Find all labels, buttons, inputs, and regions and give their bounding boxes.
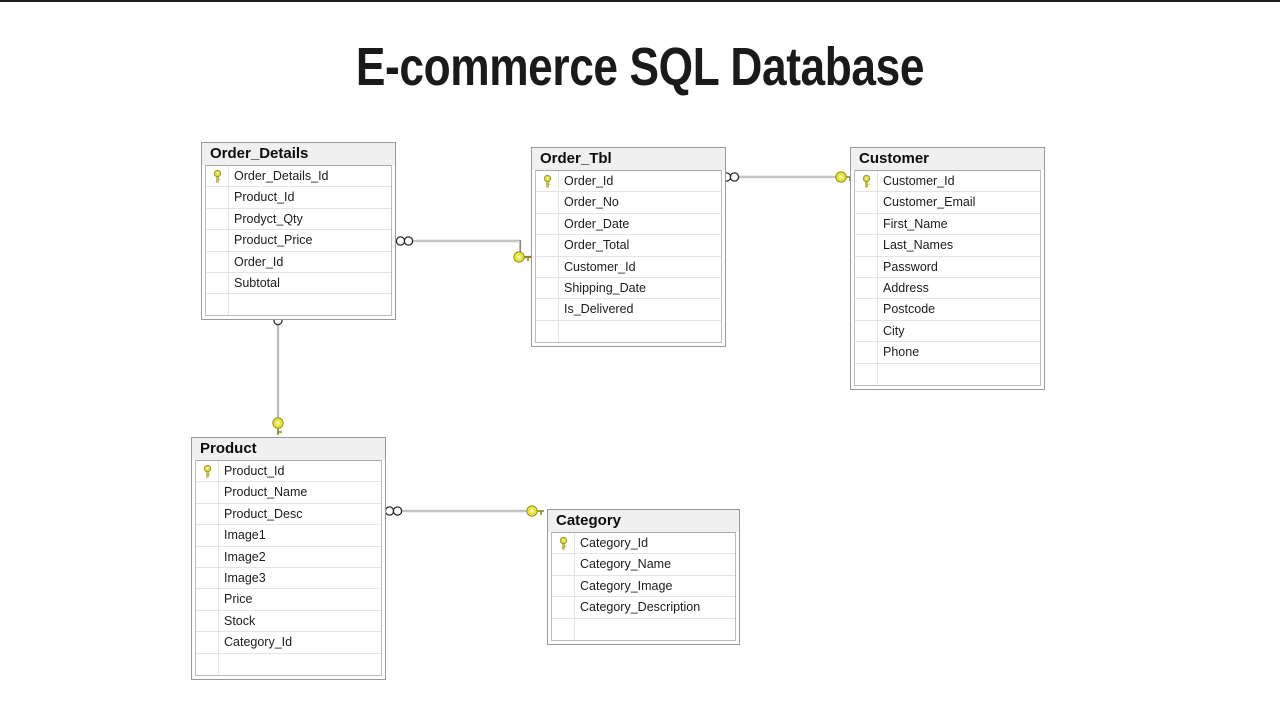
field-row[interactable]: Customer_Id — [536, 257, 721, 278]
field-key-gutter — [536, 278, 559, 298]
field-name: Order_No — [564, 192, 619, 212]
field-key-gutter — [855, 321, 878, 341]
field-row[interactable]: Product_Name — [196, 482, 381, 503]
field-row[interactable]: Prodyct_Qty — [206, 209, 391, 230]
field-name: Customer_Id — [564, 257, 636, 277]
field-name: Prodyct_Qty — [234, 209, 303, 229]
entity-fields-customer: Customer_IdCustomer_EmailFirst_NameLast_… — [854, 170, 1041, 386]
field-row[interactable]: Price — [196, 589, 381, 610]
field-key-gutter — [196, 504, 219, 524]
field-name: Subtotal — [234, 273, 280, 293]
field-row[interactable]: Customer_Email — [855, 192, 1040, 213]
field-row[interactable]: Order_No — [536, 192, 721, 213]
field-key-gutter — [552, 533, 575, 553]
field-name: Image1 — [224, 525, 266, 545]
field-name: Address — [883, 278, 929, 298]
field-name: Phone — [883, 342, 919, 362]
entity-table-product[interactable]: ProductProduct_IdProduct_NameProduct_Des… — [191, 437, 386, 680]
entity-fields-order_tbl: Order_IdOrder_NoOrder_DateOrder_TotalCus… — [535, 170, 722, 343]
field-key-gutter — [855, 192, 878, 212]
rel-order-details-order-tbl — [396, 237, 534, 262]
field-row[interactable]: Image2 — [196, 547, 381, 568]
field-row[interactable]: Order_Date — [536, 214, 721, 235]
rel-order-details-product — [273, 308, 283, 435]
field-key-gutter — [206, 294, 229, 315]
field-name: Category_Id — [224, 632, 292, 652]
field-name: Order_Total — [564, 235, 629, 255]
field-key-gutter — [536, 257, 559, 277]
field-row[interactable]: Product_Id — [206, 187, 391, 208]
field-row[interactable]: Order_Id — [206, 252, 391, 273]
field-row[interactable]: Product_Id — [196, 461, 381, 482]
field-row-empty[interactable] — [536, 321, 721, 342]
field-key-gutter — [855, 342, 878, 362]
field-row[interactable]: Category_Id — [196, 632, 381, 653]
field-key-gutter — [552, 597, 575, 617]
field-key-gutter — [536, 235, 559, 255]
field-row-empty[interactable] — [206, 294, 391, 315]
entity-table-category[interactable]: CategoryCategory_IdCategory_NameCategory… — [547, 509, 740, 645]
field-key-gutter — [855, 257, 878, 277]
field-name: Stock — [224, 611, 255, 631]
field-row[interactable]: Image3 — [196, 568, 381, 589]
field-name: Customer_Id — [883, 171, 955, 191]
entity-fields-product: Product_IdProduct_NameProduct_DescImage1… — [195, 460, 382, 676]
field-row-empty[interactable] — [552, 619, 735, 640]
field-row[interactable]: First_Name — [855, 214, 1040, 235]
field-name: Product_Price — [234, 230, 313, 250]
key-icon — [202, 465, 213, 478]
field-row-empty[interactable] — [196, 654, 381, 675]
field-key-gutter — [196, 568, 219, 588]
field-key-gutter — [536, 192, 559, 212]
field-name: Image2 — [224, 547, 266, 567]
field-key-gutter — [536, 171, 559, 191]
field-name: Product_Id — [234, 187, 294, 207]
field-key-gutter — [196, 547, 219, 567]
field-name: Shipping_Date — [564, 278, 646, 298]
field-row[interactable]: Phone — [855, 342, 1040, 363]
field-name: Customer_Email — [883, 192, 975, 212]
field-row[interactable]: Order_Details_Id — [206, 166, 391, 187]
field-row[interactable]: Product_Price — [206, 230, 391, 251]
field-name: Product_Name — [224, 482, 307, 502]
field-name: Image3 — [224, 568, 266, 588]
entity-title-category: Category — [548, 510, 739, 532]
field-row[interactable]: Stock — [196, 611, 381, 632]
er-diagram-canvas: E-commerce SQL Database — [0, 0, 1280, 720]
field-row[interactable]: Address — [855, 278, 1040, 299]
field-key-gutter — [196, 632, 219, 652]
field-name: Product_Id — [224, 461, 284, 481]
field-row[interactable]: Postcode — [855, 299, 1040, 320]
field-key-gutter — [196, 482, 219, 502]
key-one-symbol — [527, 506, 544, 516]
field-name: City — [883, 321, 905, 341]
many-symbol — [396, 237, 412, 245]
field-name: Category_Image — [580, 576, 672, 596]
key-one-symbol — [514, 252, 531, 262]
entity-table-customer[interactable]: CustomerCustomer_IdCustomer_EmailFirst_N… — [850, 147, 1045, 390]
field-name: Price — [224, 589, 252, 609]
entity-title-product: Product — [192, 438, 385, 460]
field-row[interactable]: Shipping_Date — [536, 278, 721, 299]
entity-title-order_details: Order_Details — [202, 143, 395, 165]
field-key-gutter — [206, 273, 229, 293]
key-icon — [212, 170, 223, 183]
field-key-gutter — [196, 525, 219, 545]
field-key-gutter — [855, 364, 878, 385]
field-key-gutter — [536, 299, 559, 319]
field-row[interactable]: Order_Id — [536, 171, 721, 192]
field-row[interactable]: Category_Id — [552, 533, 735, 554]
field-name: Last_Names — [883, 235, 953, 255]
field-row[interactable]: Customer_Id — [855, 171, 1040, 192]
field-key-gutter — [196, 611, 219, 631]
entity-fields-order_details: Order_Details_IdProduct_IdProdyct_QtyPro… — [205, 165, 392, 316]
field-key-gutter — [206, 252, 229, 272]
field-name: Category_Name — [580, 554, 671, 574]
field-key-gutter — [855, 278, 878, 298]
rel-order-tbl-customer — [722, 172, 853, 182]
field-row[interactable]: Category_Name — [552, 554, 735, 575]
field-key-gutter — [855, 235, 878, 255]
field-row[interactable]: Order_Total — [536, 235, 721, 256]
key-icon — [558, 537, 569, 550]
field-name: Order_Id — [564, 171, 613, 191]
field-key-gutter — [206, 209, 229, 229]
field-row-empty[interactable] — [855, 364, 1040, 385]
field-row[interactable]: Subtotal — [206, 273, 391, 294]
field-row[interactable]: City — [855, 321, 1040, 342]
key-one-symbol — [273, 418, 283, 435]
field-key-gutter — [206, 187, 229, 207]
field-name: Is_Delivered — [564, 299, 633, 319]
entity-title-customer: Customer — [851, 148, 1044, 170]
field-name: Order_Id — [234, 252, 283, 272]
field-name: Category_Description — [580, 597, 700, 617]
field-name: Order_Details_Id — [234, 166, 329, 186]
rel-product-category — [385, 506, 544, 516]
field-key-gutter — [552, 619, 575, 640]
field-row[interactable]: Image1 — [196, 525, 381, 546]
key-icon — [861, 175, 872, 188]
field-name: First_Name — [883, 214, 948, 234]
key-icon — [542, 175, 553, 188]
field-name: Order_Date — [564, 214, 629, 234]
field-row[interactable]: Is_Delivered — [536, 299, 721, 320]
field-key-gutter — [196, 654, 219, 675]
field-name: Category_Id — [580, 533, 648, 553]
field-row[interactable]: Password — [855, 257, 1040, 278]
field-row[interactable]: Category_Image — [552, 576, 735, 597]
field-name: Product_Desc — [224, 504, 303, 524]
field-key-gutter — [855, 171, 878, 191]
field-key-gutter — [552, 554, 575, 574]
entity-table-order_tbl[interactable]: Order_TblOrder_IdOrder_NoOrder_DateOrder… — [531, 147, 726, 347]
entity-table-order_details[interactable]: Order_DetailsOrder_Details_IdProduct_IdP… — [201, 142, 396, 320]
entity-title-order_tbl: Order_Tbl — [532, 148, 725, 170]
page-title: E-commerce SQL Database — [115, 36, 1165, 98]
field-name: Password — [883, 257, 938, 277]
field-key-gutter — [206, 230, 229, 250]
field-row[interactable]: Category_Description — [552, 597, 735, 618]
field-key-gutter — [536, 321, 559, 342]
field-name: Postcode — [883, 299, 935, 319]
field-key-gutter — [196, 461, 219, 481]
field-key-gutter — [206, 166, 229, 186]
field-key-gutter — [196, 589, 219, 609]
field-key-gutter — [855, 214, 878, 234]
many-symbol — [385, 507, 401, 515]
field-key-gutter — [536, 214, 559, 234]
entity-fields-category: Category_IdCategory_NameCategory_ImageCa… — [551, 532, 736, 641]
field-key-gutter — [552, 576, 575, 596]
field-row[interactable]: Last_Names — [855, 235, 1040, 256]
field-row[interactable]: Product_Desc — [196, 504, 381, 525]
field-key-gutter — [855, 299, 878, 319]
